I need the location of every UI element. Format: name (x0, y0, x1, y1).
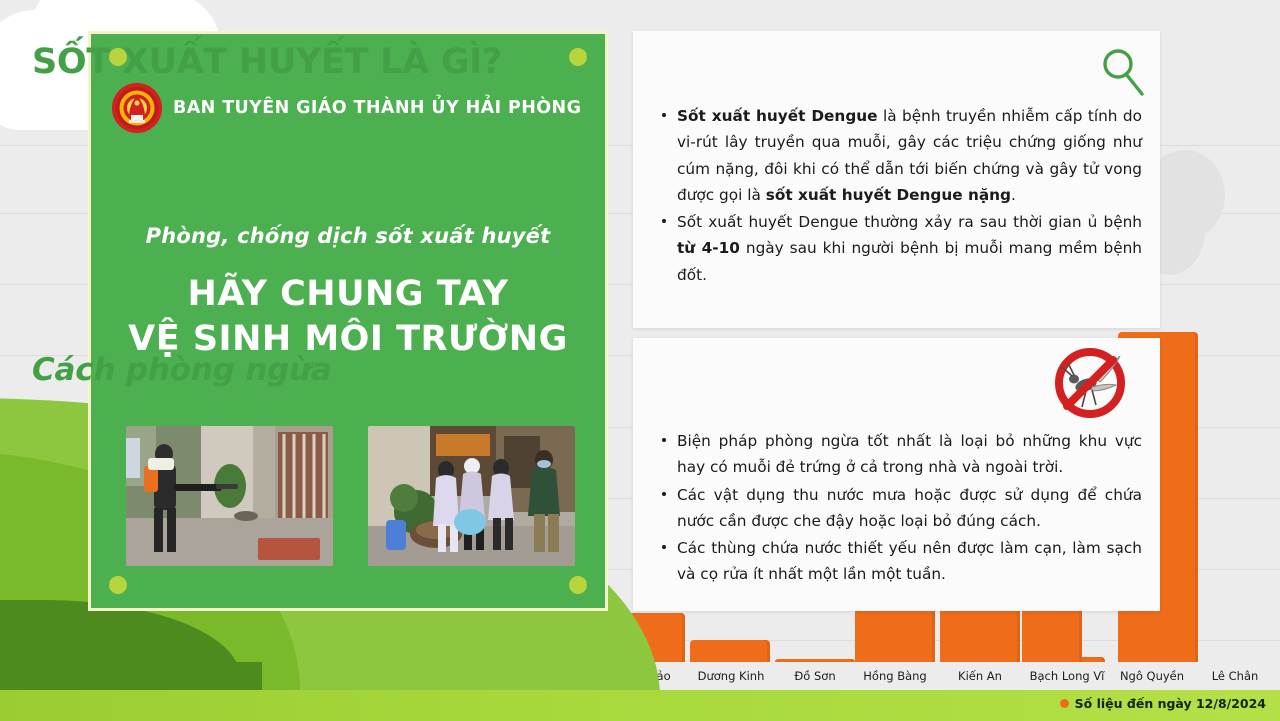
corner-dot-top-right (569, 48, 587, 66)
axis-label-8: Dương Kinh (688, 662, 774, 690)
axis-label-9: Đồ Sơn (775, 662, 855, 690)
list-item: Các thùng chứa nước thiết yếu nên được l… (660, 535, 1142, 588)
orange-dot-icon (1060, 699, 1069, 708)
magnifier-icon (1098, 46, 1148, 96)
list-item: Các vật dụng thu nước mưa hoặc được sử d… (660, 482, 1142, 535)
poster-kicker: Phòng, chống dịch sốt xuất huyết (91, 224, 605, 248)
photo-community-cleanup (368, 426, 575, 566)
card-1-bullet-list: Sốt xuất huyết Dengue là bệnh truyền nhi… (660, 103, 1142, 289)
footer-data-note: Số liệu đến ngày 12/8/2024 (1060, 696, 1266, 711)
main-poster-panel: BAN TUYÊN GIÁO THÀNH ỦY HẢI PHÒNG Phòng,… (88, 31, 608, 611)
organization-header: BAN TUYÊN GIÁO THÀNH ỦY HẢI PHÒNG (111, 82, 581, 134)
list-item: Biện pháp phòng ngừa tốt nhất là loại bỏ… (660, 428, 1142, 481)
axis-label-12: Bạch Long Vĩ (1018, 662, 1116, 690)
bar-duong-kinh (690, 640, 770, 662)
axis-label-13: Ngô Quyền (1108, 662, 1196, 690)
list-item: Sốt xuất huyết Dengue là bệnh truyền nhi… (660, 103, 1142, 208)
hai-phong-party-emblem-icon (111, 82, 163, 134)
axis-label-10: Hồng Bàng (852, 662, 938, 690)
card-2-title: Cách phòng ngừa (32, 352, 332, 388)
infographic-canvas: Hải An An Dương An Lão Cát Hải Kiến Thụy… (0, 0, 1280, 721)
axis-label-14: Lê Chân (1196, 662, 1274, 690)
poster-title-line-1: HÃY CHUNG TAY (91, 272, 605, 317)
card-2-bullet-list: Biện pháp phòng ngừa tốt nhất là loại bỏ… (660, 428, 1142, 589)
organization-name: BAN TUYÊN GIÁO THÀNH ỦY HẢI PHÒNG (173, 98, 581, 118)
axis-label-11: Kiến An (940, 662, 1020, 690)
corner-dot-bottom-right (569, 576, 587, 594)
photo-fogging-spray (126, 426, 333, 566)
card-1-title: SỐT XUẤT HUYẾT LÀ GÌ? (32, 42, 502, 82)
list-item: Sốt xuất huyết Dengue thường xảy ra sau … (660, 209, 1142, 288)
footer-note-text: Số liệu đến ngày 12/8/2024 (1075, 696, 1266, 711)
photo-row (126, 426, 576, 566)
poster-title: HÃY CHUNG TAY VỆ SINH MÔI TRƯỜNG (91, 272, 605, 362)
corner-dot-bottom-left (109, 576, 127, 594)
no-mosquito-icon (1042, 343, 1138, 421)
swoosh-footer-dark (0, 662, 262, 692)
